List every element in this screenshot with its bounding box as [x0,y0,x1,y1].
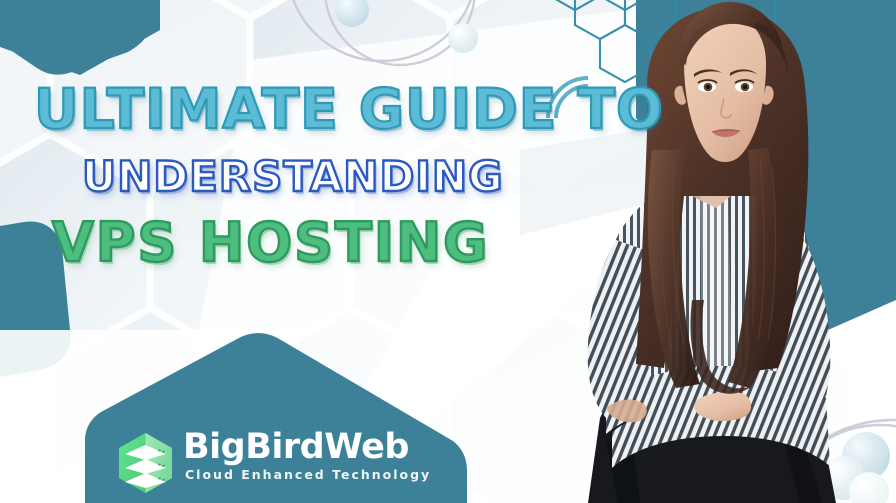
logo-lockup: BigBirdWeb Cloud Enhanced Technology [117,428,431,494]
hero-banner: ULTIMATE GUIDE TO UNDERSTANDING VPS HOST… [0,0,896,503]
logo-wordmark: BigBirdWeb [183,428,431,466]
headline-line-2: UNDERSTANDING [82,156,606,198]
headline-block: ULTIMATE GUIDE TO UNDERSTANDING VPS HOST… [26,82,606,270]
logo-text-column: BigBirdWeb Cloud Enhanced Technology [183,428,431,483]
stacked-server-hexagon-icon [117,432,174,494]
logo-banner: BigBirdWeb Cloud Enhanced Technology [85,333,467,503]
headline-line-1: ULTIMATE GUIDE TO [34,82,606,137]
logo-tagline: Cloud Enhanced Technology [185,467,431,483]
headline-line-3: VPS HOSTING [52,216,606,270]
